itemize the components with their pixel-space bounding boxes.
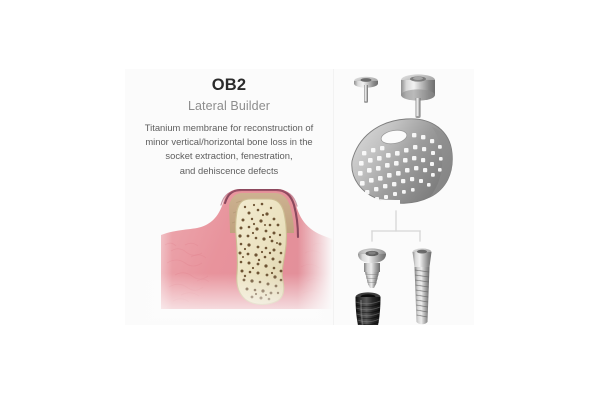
group-bracket-icon <box>372 211 420 241</box>
product-info-panel: OB2 Lateral Builder Titanium membrane fo… <box>125 69 333 325</box>
bone-socket-illustration <box>137 189 333 325</box>
fixation-tack-screw-icon <box>413 248 432 324</box>
product-subtitle: Lateral Builder <box>125 99 333 113</box>
description-line-1: Titanium membrane for reconstruction of <box>131 121 327 135</box>
side-fade <box>137 189 333 325</box>
description-line-3: socket extraction, fenestration, <box>131 149 327 163</box>
component-renders <box>334 69 474 325</box>
description-line-4: and dehiscence defects <box>131 164 327 178</box>
product-components-panel <box>334 69 474 325</box>
large-cover-cap-icon <box>401 74 435 118</box>
implant-fixture-icon <box>356 292 381 325</box>
product-description: Titanium membrane for reconstruction of … <box>131 121 327 178</box>
titanium-mesh-membrane-icon <box>352 119 453 205</box>
cover-screw-icon <box>358 248 386 288</box>
description-line-2: minor vertical/horizontal bone loss in t… <box>131 135 327 149</box>
page-title: OB2 <box>125 76 333 95</box>
small-cover-cap-icon <box>354 77 378 103</box>
product-card: OB2 Lateral Builder Titanium membrane fo… <box>125 69 474 325</box>
